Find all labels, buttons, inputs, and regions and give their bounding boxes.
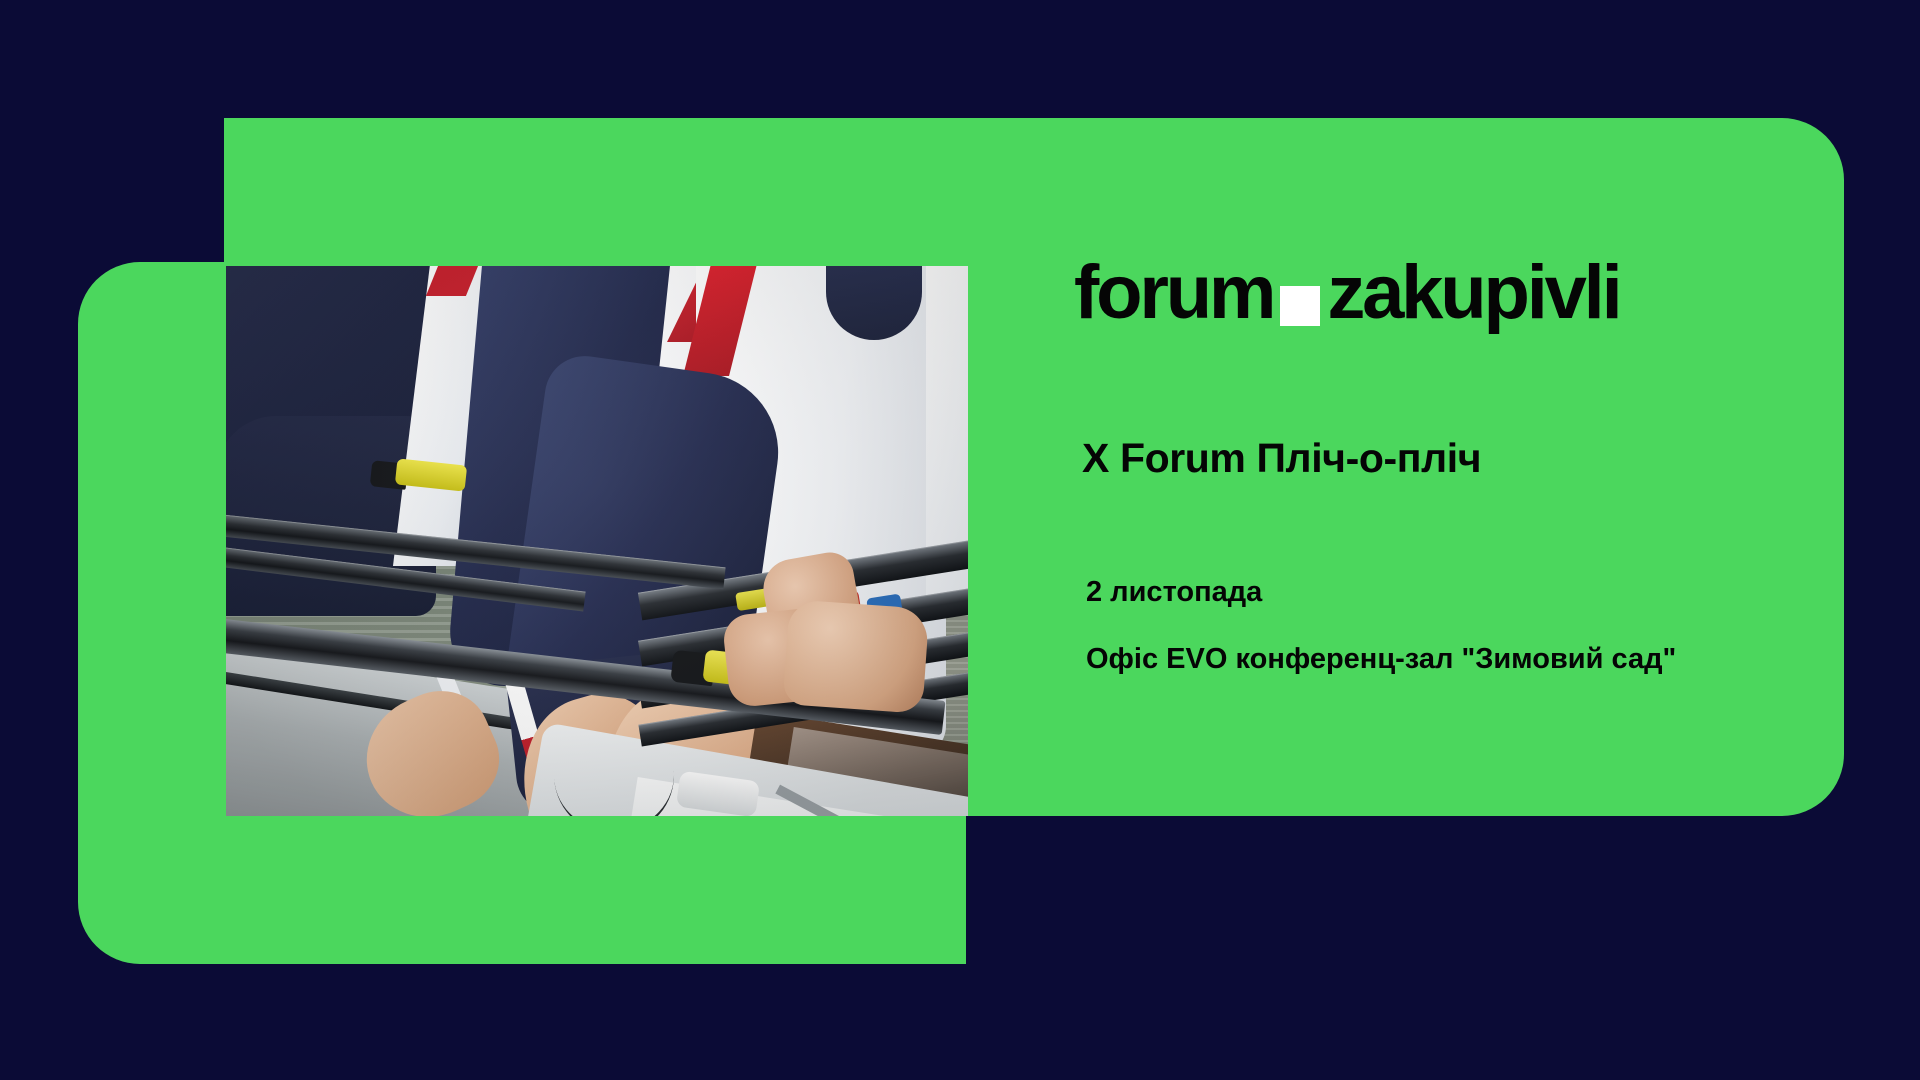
brand-logo-part-one: forum [1074, 255, 1273, 331]
photo-vignette [226, 266, 968, 816]
brand-logo: forum zakupivli [1074, 255, 1620, 331]
event-venue: Офіс EVO конференц-зал "Зимовий сад" [1086, 637, 1776, 682]
poster-canvas: forum zakupivli X Forum Пліч-о-пліч 2 ли… [0, 0, 1920, 1080]
rowing-photo-inner [226, 266, 968, 816]
event-date: 2 листопада [1086, 570, 1786, 615]
white-square-icon [1280, 286, 1320, 326]
rowing-photo [226, 266, 968, 816]
brand-logo-part-two: zakupivli [1327, 255, 1619, 331]
page-title: X Forum Пліч-о-пліч [1082, 435, 1481, 482]
event-details: 2 листопада Офіс EVO конференц-зал "Зимо… [1086, 570, 1786, 682]
